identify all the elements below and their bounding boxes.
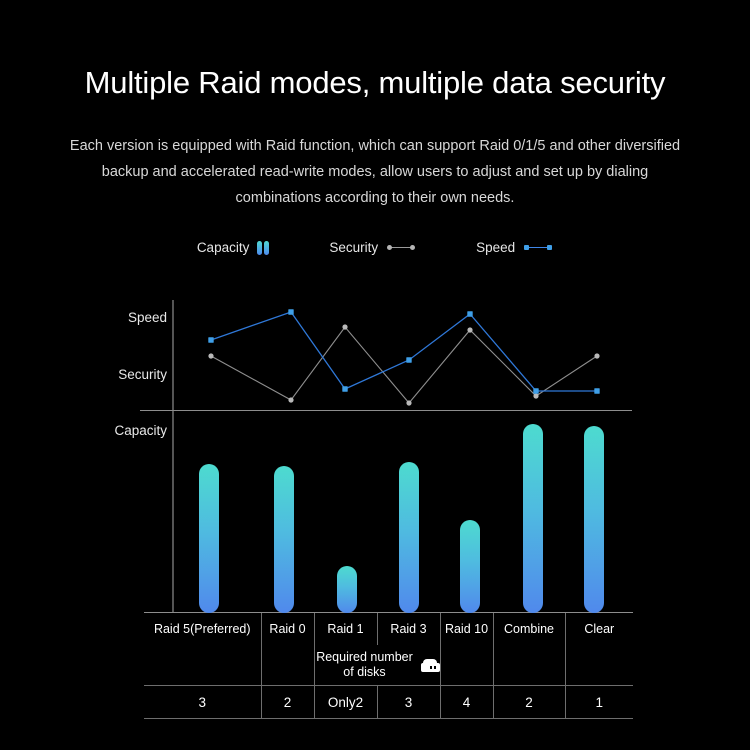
table-header-raid10: Raid 10 bbox=[440, 613, 493, 645]
bar-combine bbox=[523, 424, 543, 613]
table-value-raid0: 2 bbox=[261, 686, 314, 719]
line-square-icon bbox=[523, 243, 553, 253]
disk-drive-icon bbox=[421, 659, 440, 672]
table-value-combine: 2 bbox=[493, 686, 565, 719]
table-row-values: 3 2 Only2 3 4 2 1 bbox=[144, 686, 633, 719]
table-header-combine: Combine bbox=[493, 613, 565, 645]
table-value-raid10: 4 bbox=[440, 686, 493, 719]
series-security bbox=[208, 324, 599, 405]
table-value-raid3: 3 bbox=[377, 686, 440, 719]
y-axis-label-speed: Speed bbox=[128, 310, 167, 325]
series-speed bbox=[208, 309, 599, 393]
legend-item-speed[interactable]: Speed bbox=[476, 240, 553, 255]
table-header-raid1: Raid 1 bbox=[314, 613, 377, 645]
legend-item-capacity[interactable]: Capacity bbox=[197, 240, 270, 255]
bar-raid10 bbox=[460, 520, 480, 613]
required-number-of-disks-label: Required number of disks bbox=[315, 650, 415, 680]
table-value-clear: 1 bbox=[565, 686, 633, 719]
legend-label-capacity: Capacity bbox=[197, 240, 250, 255]
bar-raid0 bbox=[274, 466, 294, 613]
y-axis-label-capacity: Capacity bbox=[114, 423, 167, 438]
page-title: Multiple Raid modes, multiple data secur… bbox=[0, 64, 750, 101]
bar-raid5 bbox=[199, 464, 219, 613]
table-cell-mid-7 bbox=[565, 645, 633, 686]
table-value-raid1: Only2 bbox=[314, 686, 377, 719]
line-dot-icon bbox=[386, 243, 416, 253]
page-subtitle: Each version is equipped with Raid funct… bbox=[69, 133, 681, 211]
bar-clear bbox=[584, 426, 604, 613]
table-cell-mid-1 bbox=[144, 645, 261, 686]
table-cell-mid-6 bbox=[493, 645, 565, 686]
raid-table: Raid 5(Preferred) Raid 0 Raid 1 Raid 3 R… bbox=[144, 613, 633, 719]
table-header-raid5: Raid 5(Preferred) bbox=[144, 613, 261, 645]
table-row-headers: Raid 5(Preferred) Raid 0 Raid 1 Raid 3 R… bbox=[144, 613, 633, 645]
table-cell-mid-2 bbox=[261, 645, 314, 686]
table-header-clear: Clear bbox=[565, 613, 633, 645]
bars-icon bbox=[257, 241, 269, 255]
table-header-raid3: Raid 3 bbox=[377, 613, 440, 645]
y-axis-label-security: Security bbox=[118, 367, 167, 382]
table-value-raid5: 3 bbox=[144, 686, 261, 719]
table-header-raid0: Raid 0 bbox=[261, 613, 314, 645]
table-cell-mid-5 bbox=[440, 645, 493, 686]
legend-label-security: Security bbox=[329, 240, 378, 255]
bar-raid1 bbox=[337, 566, 357, 613]
series-capacity-bars bbox=[199, 424, 604, 613]
table-row-required-disks-label: Required number of disks bbox=[144, 645, 633, 686]
chart-legend: Capacity Security Speed bbox=[0, 240, 750, 255]
legend-item-security[interactable]: Security bbox=[329, 240, 416, 255]
required-number-of-disks-cell: Required number of disks bbox=[314, 645, 440, 686]
bar-raid3 bbox=[399, 462, 419, 613]
legend-label-speed: Speed bbox=[476, 240, 515, 255]
raid-infographic: Multiple Raid modes, multiple data secur… bbox=[0, 0, 750, 750]
